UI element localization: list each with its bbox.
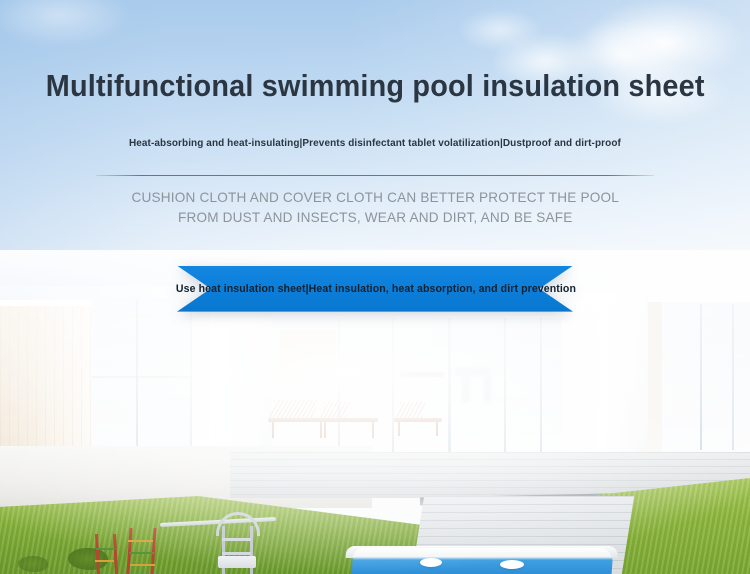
ribbon-label: Use heat insulation sheet|Heat insulatio… bbox=[185, 266, 565, 312]
hero-description-line-1: CUSHION CLOTH AND COVER CLOTH CAN BETTER… bbox=[131, 187, 618, 207]
page-title: Multifunctional swimming pool insulation… bbox=[46, 70, 705, 101]
hero-banner: Multifunctional swimming pool insulation… bbox=[0, 0, 750, 574]
hero-description: CUSHION CLOTH AND COVER CLOTH CAN BETTER… bbox=[131, 187, 618, 228]
hero-text-overlay: Multifunctional swimming pool insulation… bbox=[0, 0, 750, 574]
hero-subtitle: Heat-absorbing and heat-insulating|Preve… bbox=[129, 137, 621, 149]
divider-rule bbox=[96, 175, 654, 176]
hero-description-line-2: FROM DUST AND INSECTS, WEAR AND DIRT, AN… bbox=[131, 207, 618, 227]
feature-ribbon: Use heat insulation sheet|Heat insulatio… bbox=[177, 266, 573, 312]
